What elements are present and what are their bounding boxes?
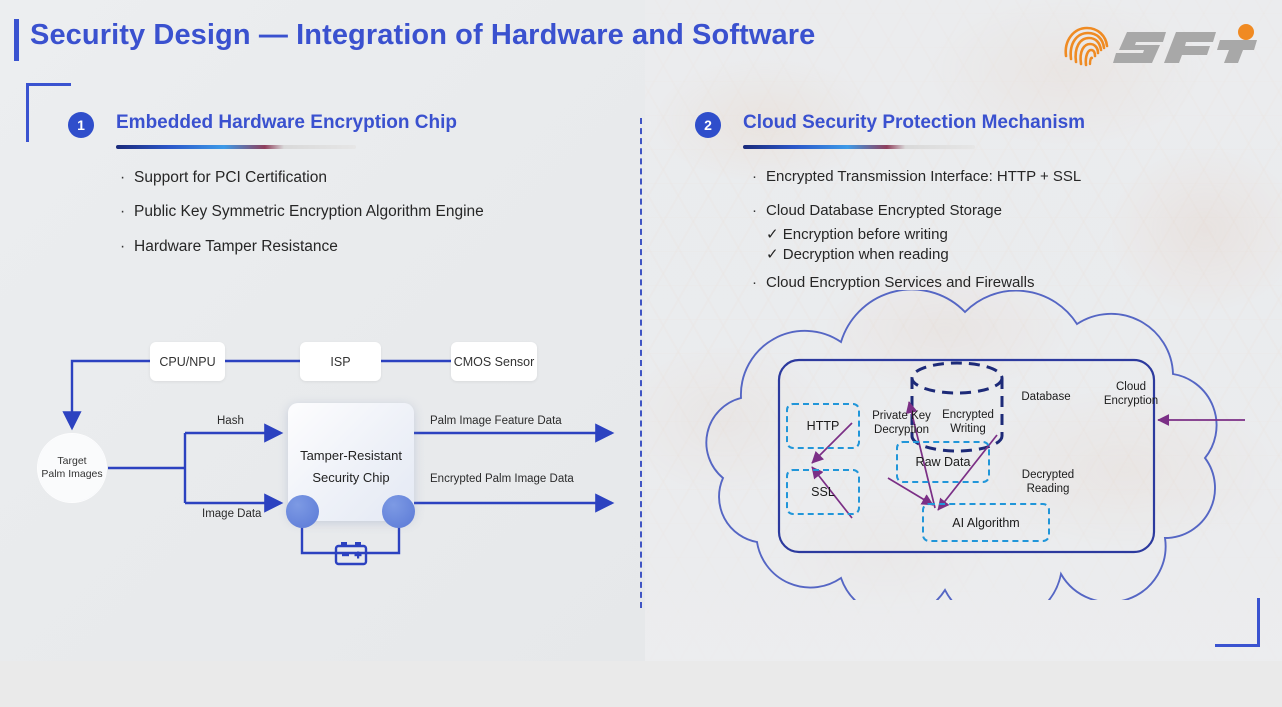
label-text: Cloud Encryption — [1096, 381, 1166, 409]
bullet-list-right: ·Encrypted Transmission Interface: HTTP … — [752, 168, 1081, 308]
title-accent-bar — [14, 19, 19, 61]
bullet-dot: · — [120, 168, 134, 187]
node-label: CMOS Sensor — [454, 355, 535, 369]
list-item: ·Support for PCI Certification — [120, 168, 484, 187]
node-cpu-npu[interactable]: CPU/NPU — [150, 342, 225, 381]
box-ai-algorithm[interactable]: AI Algorithm — [922, 503, 1050, 542]
logo-dot — [1238, 24, 1254, 40]
chip-label-line1: Tamper-Resistant — [288, 445, 414, 467]
bullet-dot: · — [752, 202, 766, 265]
box-label: AI Algorithm — [952, 516, 1019, 530]
list-item: · Cloud Database Encrypted Storage ✓ Enc… — [752, 202, 1081, 265]
section-underline-left — [116, 145, 356, 149]
node-label: ISP — [330, 355, 350, 369]
database-cylinder — [912, 363, 1002, 451]
chip-label: Tamper-Resistant Security Chip — [288, 445, 414, 490]
box-http[interactable]: HTTP — [786, 403, 860, 449]
box-ssl[interactable]: SSL — [786, 469, 860, 515]
node-cmos-sensor[interactable]: CMOS Sensor — [451, 342, 537, 381]
section-title-right: Cloud Security Protection Mechanism — [743, 112, 1085, 134]
logo-wordmark — [1113, 32, 1257, 63]
node-isp[interactable]: ISP — [300, 342, 381, 381]
label-image-data: Image Data — [202, 508, 261, 520]
corner-bracket-top-left — [26, 83, 71, 142]
bullet-group: Cloud Database Encrypted Storage ✓ Encry… — [766, 202, 1002, 265]
box-label: SSL — [811, 485, 835, 499]
bottom-strip — [0, 661, 1282, 707]
power-loop — [302, 527, 399, 553]
source-label-line2: Palm Images — [41, 468, 102, 481]
label-cloud-encryption: Cloud Encryption — [1096, 381, 1166, 409]
sub-item: ✓ Decryption when reading — [766, 245, 1002, 265]
chip-knob-right — [382, 495, 415, 528]
box-raw-data[interactable]: Raw Data — [896, 441, 990, 483]
section-title-left: Embedded Hardware Encryption Chip — [116, 112, 457, 134]
section-underline-right — [743, 145, 975, 149]
chip-label-line2: Security Chip — [288, 467, 414, 489]
bullet-text: Public Key Symmetric Encryption Algorith… — [134, 202, 484, 221]
sub-item-list: ✓ Encryption before writing ✓ Decryption… — [766, 225, 1002, 266]
label-palm-feature-data: Palm Image Feature Data — [430, 415, 562, 427]
section-number-badge-2: 2 — [695, 112, 721, 138]
corner-bracket-bottom-right — [1215, 598, 1260, 647]
label-database: Database — [1015, 391, 1077, 405]
bullet-text: Hardware Tamper Resistance — [134, 237, 338, 256]
label-text: Decrypted Reading — [1009, 469, 1087, 497]
list-item: ·Encrypted Transmission Interface: HTTP … — [752, 168, 1081, 187]
fingerprint-icon — [1066, 28, 1107, 65]
list-item: ·Public Key Symmetric Encryption Algorit… — [120, 202, 484, 221]
label-encrypted-palm-data: Encrypted Palm Image Data — [430, 473, 574, 485]
box-label: Raw Data — [916, 455, 971, 469]
slide: Security Design — Integration of Hardwar… — [0, 0, 1282, 707]
label-encrypted-writing: Encrypted Writing — [932, 409, 1004, 437]
label-text: Encrypted Writing — [932, 409, 1004, 437]
node-label: CPU/NPU — [159, 355, 215, 369]
sub-item: ✓ Encryption before writing — [766, 225, 1002, 245]
label-decrypted-reading: Decrypted Reading — [1009, 469, 1087, 497]
link-cpu-to-source — [72, 361, 150, 428]
bullet-text: Cloud Database Encrypted Storage — [766, 202, 1002, 219]
bullet-text: Encrypted Transmission Interface: HTTP +… — [766, 168, 1081, 187]
box-label: HTTP — [807, 419, 840, 433]
source-palm-images[interactable]: Target Palm Images — [38, 434, 106, 502]
label-hash: Hash — [217, 415, 244, 427]
section-number-badge-1: 1 — [68, 112, 94, 138]
bullet-dot: · — [120, 237, 134, 256]
source-label-line1: Target — [57, 455, 86, 468]
bullet-list-left: ·Support for PCI Certification ·Public K… — [120, 168, 484, 271]
logo-svg — [1060, 18, 1260, 74]
page-title: Security Design — Integration of Hardwar… — [30, 19, 815, 52]
sft-logo — [1060, 18, 1260, 74]
bullet-dot: · — [120, 202, 134, 221]
bullet-dot: · — [752, 168, 766, 187]
bullet-text: Support for PCI Certification — [134, 168, 327, 187]
list-item: ·Hardware Tamper Resistance — [120, 237, 484, 256]
chip-knob-left — [286, 495, 319, 528]
